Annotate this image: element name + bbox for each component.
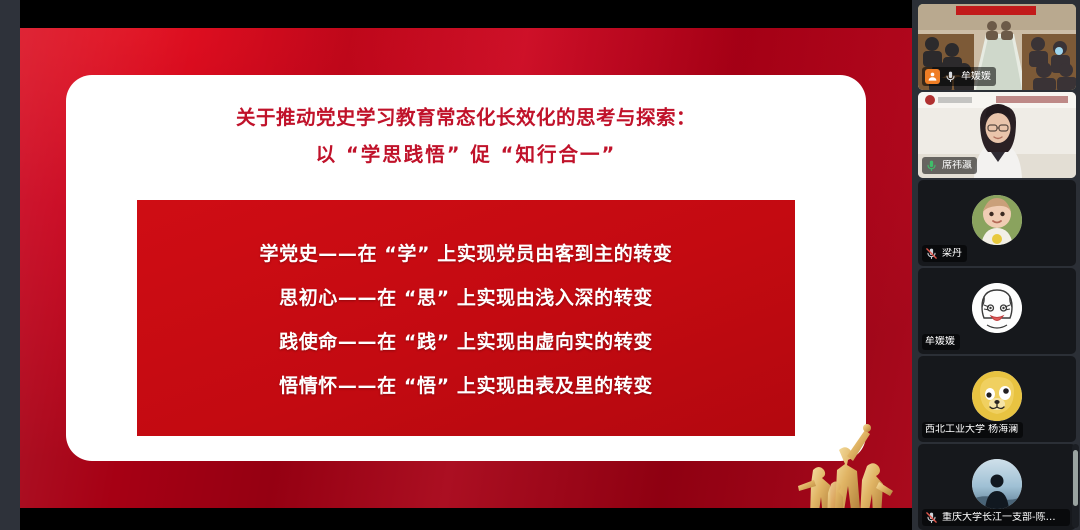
participant-namebar: 重庆大学长江一支部-陈钰辉: [922, 509, 1070, 526]
mic-muted-icon: [925, 511, 938, 524]
slide-title-line-2: 以 “学思践悟” 促 “知行合一”: [66, 136, 866, 173]
slide-bullet: 践使命——在 “践” 上实现由虚向实的转变: [137, 320, 795, 364]
avatar: [972, 459, 1022, 509]
participant-name: 西北工业大学 杨海澜: [925, 424, 1018, 436]
slide-bullet: 学党史——在 “学” 上实现党员由客到主的转变: [137, 232, 795, 276]
participant-tile[interactable]: 西北工业大学 杨海澜: [918, 356, 1076, 442]
slide-title: 关于推动党史学习教育常态化长效化的思考与探索： 以 “学思践悟” 促 “知行合一…: [66, 99, 866, 173]
slide-bullet: 思初心——在 “思” 上实现由浅入深的转变: [137, 276, 795, 320]
mic-icon: [944, 70, 957, 83]
participant-name: 席祎瀛: [942, 160, 972, 172]
avatar: [972, 283, 1022, 333]
participant-namebar: 梁丹: [922, 245, 967, 262]
participant-tile[interactable]: 梁丹: [918, 180, 1076, 266]
participant-namebar: 席祎瀛: [922, 157, 977, 174]
roster-scrollbar[interactable]: [1072, 444, 1079, 528]
participant-tile[interactable]: 牟媛媛: [918, 4, 1076, 90]
slide-bullet: 悟情怀——在 “悟” 上实现由表及里的转变: [137, 364, 795, 408]
participant-name: 牟媛媛: [961, 71, 991, 83]
spotlight-icon: [925, 69, 940, 84]
slide-content-block: 学党史——在 “学” 上实现党员由客到主的转变 思初心——在 “思” 上实现由浅…: [137, 200, 795, 436]
participant-tile[interactable]: 牟媛媛: [918, 268, 1076, 354]
letterbox-bottom: [20, 508, 912, 530]
avatar: [972, 195, 1022, 245]
participant-name: 牟媛媛: [925, 336, 955, 348]
participant-filmstrip[interactable]: 牟媛媛: [912, 0, 1080, 530]
presentation-slide: 关于推动党史学习教育常态化长效化的思考与探索： 以 “学思践悟” 促 “知行合一…: [20, 28, 912, 508]
mic-icon: [925, 159, 938, 172]
avatar: [972, 371, 1022, 421]
participant-tile[interactable]: 席祎瀛: [918, 92, 1076, 178]
letterbox-top: [20, 0, 912, 28]
stage-gutter: [0, 0, 20, 530]
slide-title-line-1: 关于推动党史学习教育常态化长效化的思考与探索：: [236, 106, 696, 129]
participant-namebar: 西北工业大学 杨海澜: [922, 422, 1023, 438]
mic-muted-icon: [925, 247, 938, 260]
video-conference-window: 关于推动党史学习教育常态化长效化的思考与探索： 以 “学思践悟” 促 “知行合一…: [0, 0, 1080, 530]
shared-screen-stage[interactable]: 关于推动党史学习教育常态化长效化的思考与探索： 以 “学思践悟” 促 “知行合一…: [0, 0, 912, 530]
participant-namebar: 牟媛媛: [922, 67, 996, 86]
participant-name: 重庆大学长江一支部-陈钰辉: [942, 512, 1065, 524]
participant-namebar: 牟媛媛: [922, 334, 960, 350]
participant-name: 梁丹: [942, 248, 962, 260]
participant-tile[interactable]: 重庆大学长江一支部-陈钰辉: [918, 444, 1076, 530]
slide-white-card: 关于推动党史学习教育常态化长效化的思考与探索： 以 “学思践悟” 促 “知行合一…: [66, 75, 866, 461]
roster-scrollbar-thumb[interactable]: [1073, 450, 1078, 506]
